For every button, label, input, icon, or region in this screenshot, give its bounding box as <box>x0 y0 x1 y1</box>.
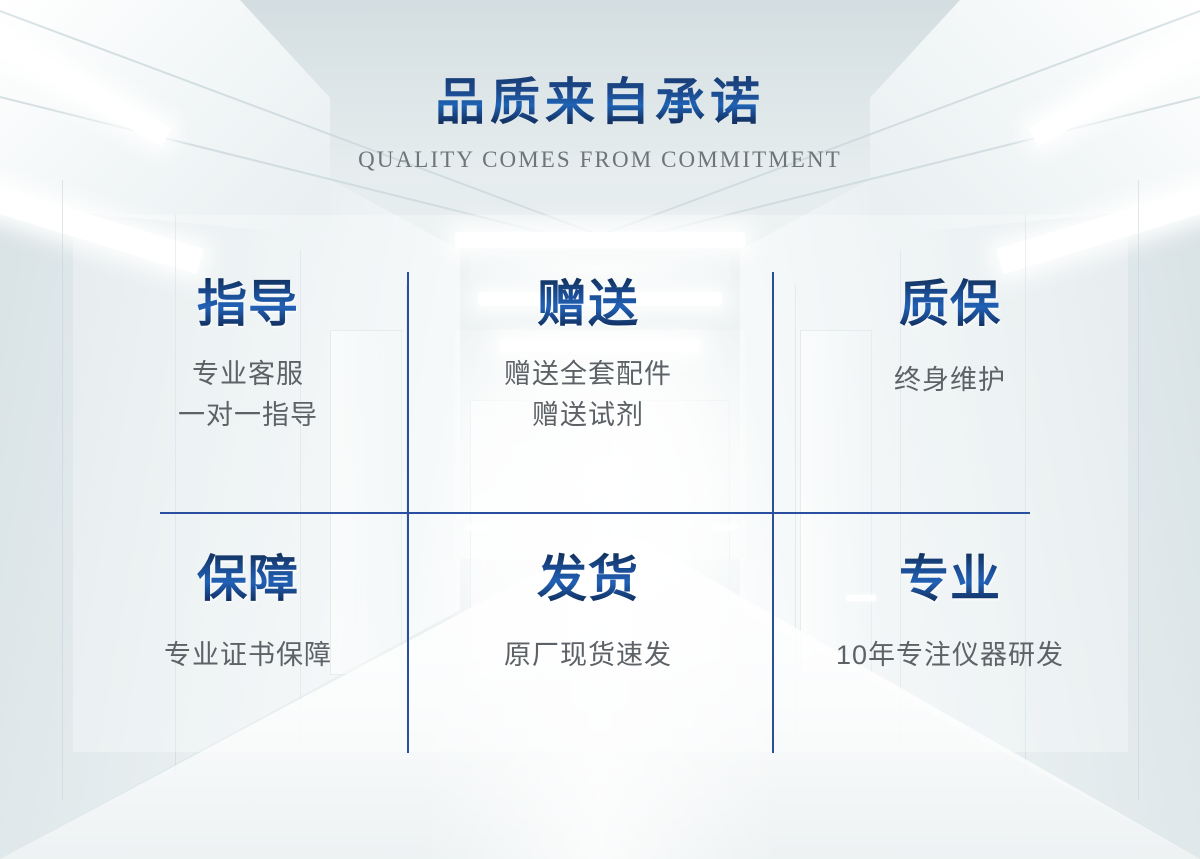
feature-description: 终身维护 <box>785 360 1115 401</box>
feature-line: 终身维护 <box>785 360 1115 401</box>
feature-cell-guidance: 指导 专业客服 一对一指导 <box>83 277 413 436</box>
feature-cell-expertise: 专业 10年专注仪器研发 <box>785 552 1115 676</box>
feature-description: 专业客服 一对一指导 <box>83 354 413 436</box>
feature-line: 赠送试剂 <box>423 395 753 436</box>
feature-cell-gift: 赠送 赠送全套配件 赠送试剂 <box>423 277 753 436</box>
grid-divider-horizontal <box>160 512 1030 514</box>
feature-heading: 保障 <box>83 552 413 607</box>
feature-heading: 赠送 <box>423 277 753 332</box>
feature-line: 专业证书保障 <box>83 635 413 676</box>
feature-line: 专业客服 <box>83 354 413 395</box>
feature-heading: 专业 <box>785 552 1115 607</box>
feature-description: 10年专注仪器研发 <box>785 635 1115 676</box>
feature-cell-warranty: 质保 终身维护 <box>785 277 1115 401</box>
content-overlay: 品质来自承诺 QUALITY COMES FROM COMMITMENT 指导 … <box>0 0 1200 859</box>
feature-line: 赠送全套配件 <box>423 354 753 395</box>
feature-line: 原厂现货速发 <box>423 635 753 676</box>
feature-line: 一对一指导 <box>83 395 413 436</box>
feature-cell-shipping: 发货 原厂现货速发 <box>423 552 753 676</box>
feature-heading: 指导 <box>83 277 413 332</box>
page-title: 品质来自承诺 <box>0 62 1200 134</box>
features-grid: 指导 专业客服 一对一指导 赠送 赠送全套配件 赠送试剂 质保 终身维护 保障 … <box>73 215 1128 752</box>
feature-cell-assurance: 保障 专业证书保障 <box>83 552 413 676</box>
feature-description: 专业证书保障 <box>83 635 413 676</box>
feature-line: 10年专注仪器研发 <box>785 635 1115 676</box>
feature-description: 原厂现货速发 <box>423 635 753 676</box>
page-subtitle: QUALITY COMES FROM COMMITMENT <box>0 147 1200 173</box>
feature-heading: 质保 <box>785 277 1115 332</box>
feature-description: 赠送全套配件 赠送试剂 <box>423 354 753 436</box>
feature-heading: 发货 <box>423 552 753 607</box>
